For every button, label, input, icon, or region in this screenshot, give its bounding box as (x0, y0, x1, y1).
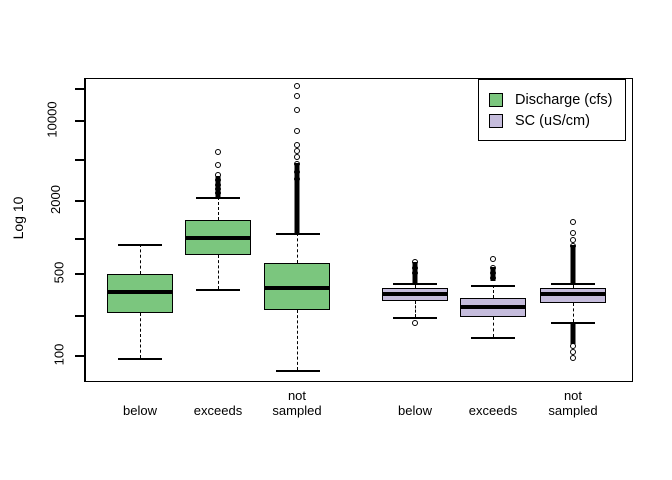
x-label-exceeds-2: exceeds (448, 403, 538, 418)
y-tick-10000 (75, 120, 84, 122)
box4-lower-cap (393, 317, 437, 319)
box3-upper-whisker (297, 233, 298, 263)
y-tick-label-500-text: 500 (53, 262, 66, 284)
box3-lower-whisker (297, 310, 298, 370)
box1-lower-whisker (140, 313, 141, 358)
y-tick-500 (75, 273, 84, 275)
box6-outlier-band-upper (571, 245, 576, 283)
y-tick-label-10000: 10000 (0, 113, 70, 126)
legend-label-discharge: Discharge (cfs) (515, 92, 613, 108)
box3-outlier-band (295, 163, 300, 233)
box1-lower-cap (118, 358, 162, 360)
box2-outlier (215, 162, 221, 168)
y-tick-100 (75, 355, 84, 357)
box2-outlier-band (216, 176, 221, 197)
box6-outlier-band-lower (571, 322, 576, 344)
box5-outlier-band (491, 267, 496, 281)
legend-item-sc: SC (uS/cm) (489, 110, 613, 131)
x-label-below-1: below (95, 403, 185, 418)
box5-lower-whisker (493, 317, 494, 337)
y-tick-label-10000-text: 10000 (45, 101, 58, 137)
box1-median (107, 290, 173, 294)
box6-outlier (570, 230, 576, 236)
legend-item-discharge: Discharge (cfs) (489, 89, 613, 110)
box3-lower-cap (276, 370, 320, 372)
box5-upper-whisker (493, 285, 494, 298)
x-label-exceeds-1: exceeds (173, 403, 263, 418)
box5-median (460, 305, 526, 309)
y-tick-top (75, 88, 84, 90)
boxplot-chart: Log 10 10000 2000 500 100 (0, 0, 672, 480)
box2-outlier (215, 149, 221, 155)
box6-lower-whisker (573, 303, 574, 322)
box1-upper-whisker (140, 244, 141, 274)
box3-outlier (294, 93, 300, 99)
legend-swatch-sc-icon (489, 114, 503, 128)
box3-median (264, 286, 330, 290)
legend: Discharge (cfs) SC (uS/cm) (478, 79, 626, 141)
box6-outlier (570, 355, 576, 361)
y-tick-label-2000: 2000 (0, 193, 70, 206)
box3-outlier (294, 107, 300, 113)
box3-outlier (294, 154, 300, 160)
box3-upper-cap (276, 233, 320, 235)
box6-median (540, 292, 606, 296)
legend-label-sc: SC (uS/cm) (515, 113, 590, 129)
box6-outlier (570, 219, 576, 225)
box5-lower-cap (471, 337, 515, 339)
box2-upper-whisker (218, 197, 219, 220)
x-label-not-sampled-2: not sampled (528, 388, 618, 418)
x-label-not-sampled-1: not sampled (252, 388, 342, 418)
y-tick-label-100-text: 100 (53, 344, 66, 366)
box4-outlier-band (413, 262, 418, 284)
y-tick-label-2000-text: 2000 (49, 185, 62, 214)
box3-outlier (294, 128, 300, 134)
y-tick-label-500: 500 (0, 266, 70, 279)
box4-median (382, 292, 448, 296)
box2-lower-cap (196, 289, 240, 291)
box5-outlier (490, 256, 496, 262)
y-tick-minor-1 (75, 159, 84, 161)
y-tick-label-100: 100 (0, 348, 70, 361)
y-tick-minor-3 (75, 315, 84, 317)
y-tick-2000 (75, 200, 84, 202)
box3-outlier (294, 83, 300, 89)
x-label-below-2: below (370, 403, 460, 418)
box4-lower-whisker (415, 301, 416, 317)
box2-lower-whisker (218, 255, 219, 289)
box2-median (185, 236, 251, 240)
y-tick-minor-2 (75, 238, 84, 240)
legend-swatch-discharge-icon (489, 93, 503, 107)
box4-outlier (412, 320, 418, 326)
